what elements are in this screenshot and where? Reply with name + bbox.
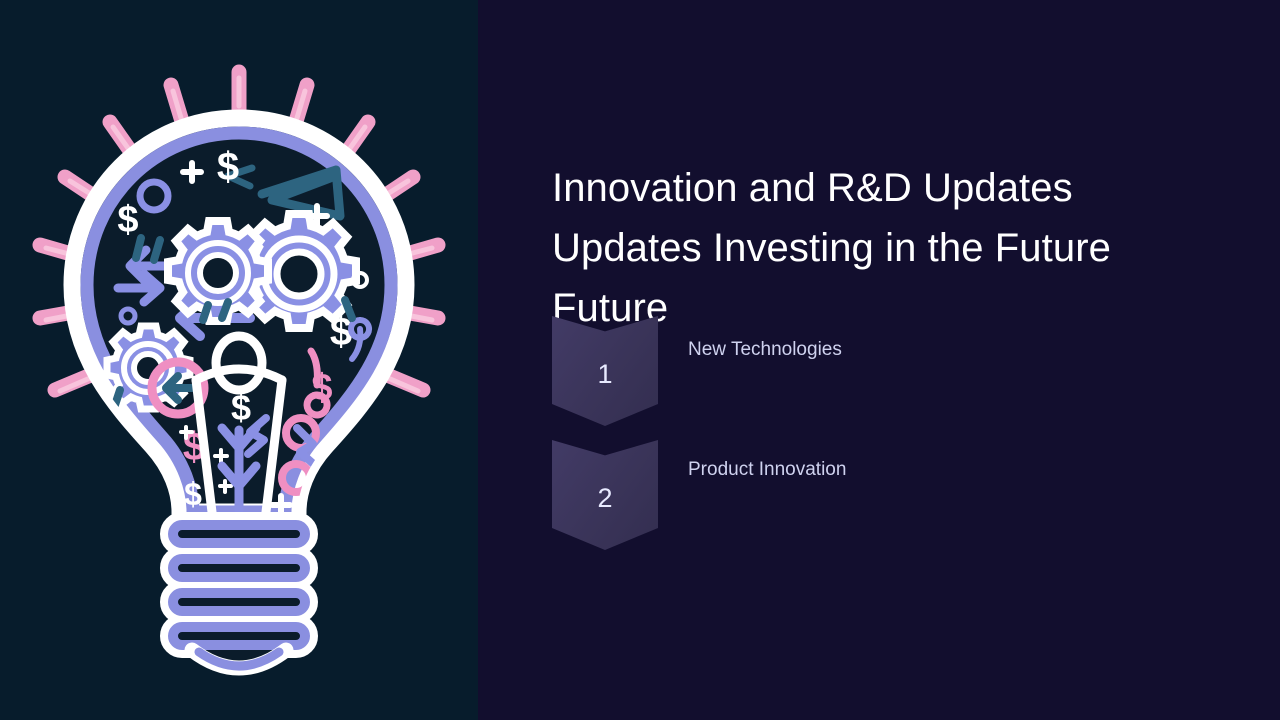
svg-text:$: $ <box>184 476 202 512</box>
chevron-number-2: 2 <box>597 485 612 512</box>
list-item-label-1: New Technologies <box>688 338 842 362</box>
chevron-badge-2: 2 <box>552 440 658 550</box>
svg-text:$: $ <box>350 465 366 496</box>
lightbulb-ideas-illustration: $ $ $ $ $ $ $ $ <box>0 0 478 720</box>
chevron-badge-1: 1 <box>552 316 658 426</box>
chevron-number-1: 1 <box>597 361 612 388</box>
list-item[interactable]: 2 Product Innovation <box>552 440 1212 564</box>
numbered-list: 1 New Technologies 2 Product Innovation <box>552 316 1212 564</box>
slide-root: $ $ $ $ $ $ $ $ <box>0 0 1280 720</box>
list-item[interactable]: 1 New Technologies <box>552 316 1212 440</box>
title-line-2: Updates Investing in the Future <box>552 218 1212 278</box>
title-line-1: Innovation and R&D Updates <box>552 158 1212 218</box>
page-title: Innovation and R&D Updates Updates Inves… <box>552 158 1212 338</box>
gear-medium <box>168 221 268 321</box>
svg-text:$: $ <box>217 145 239 189</box>
svg-text:$: $ <box>117 199 138 241</box>
bulb-screw-base <box>168 520 310 668</box>
list-item-label-2: Product Innovation <box>688 458 846 482</box>
